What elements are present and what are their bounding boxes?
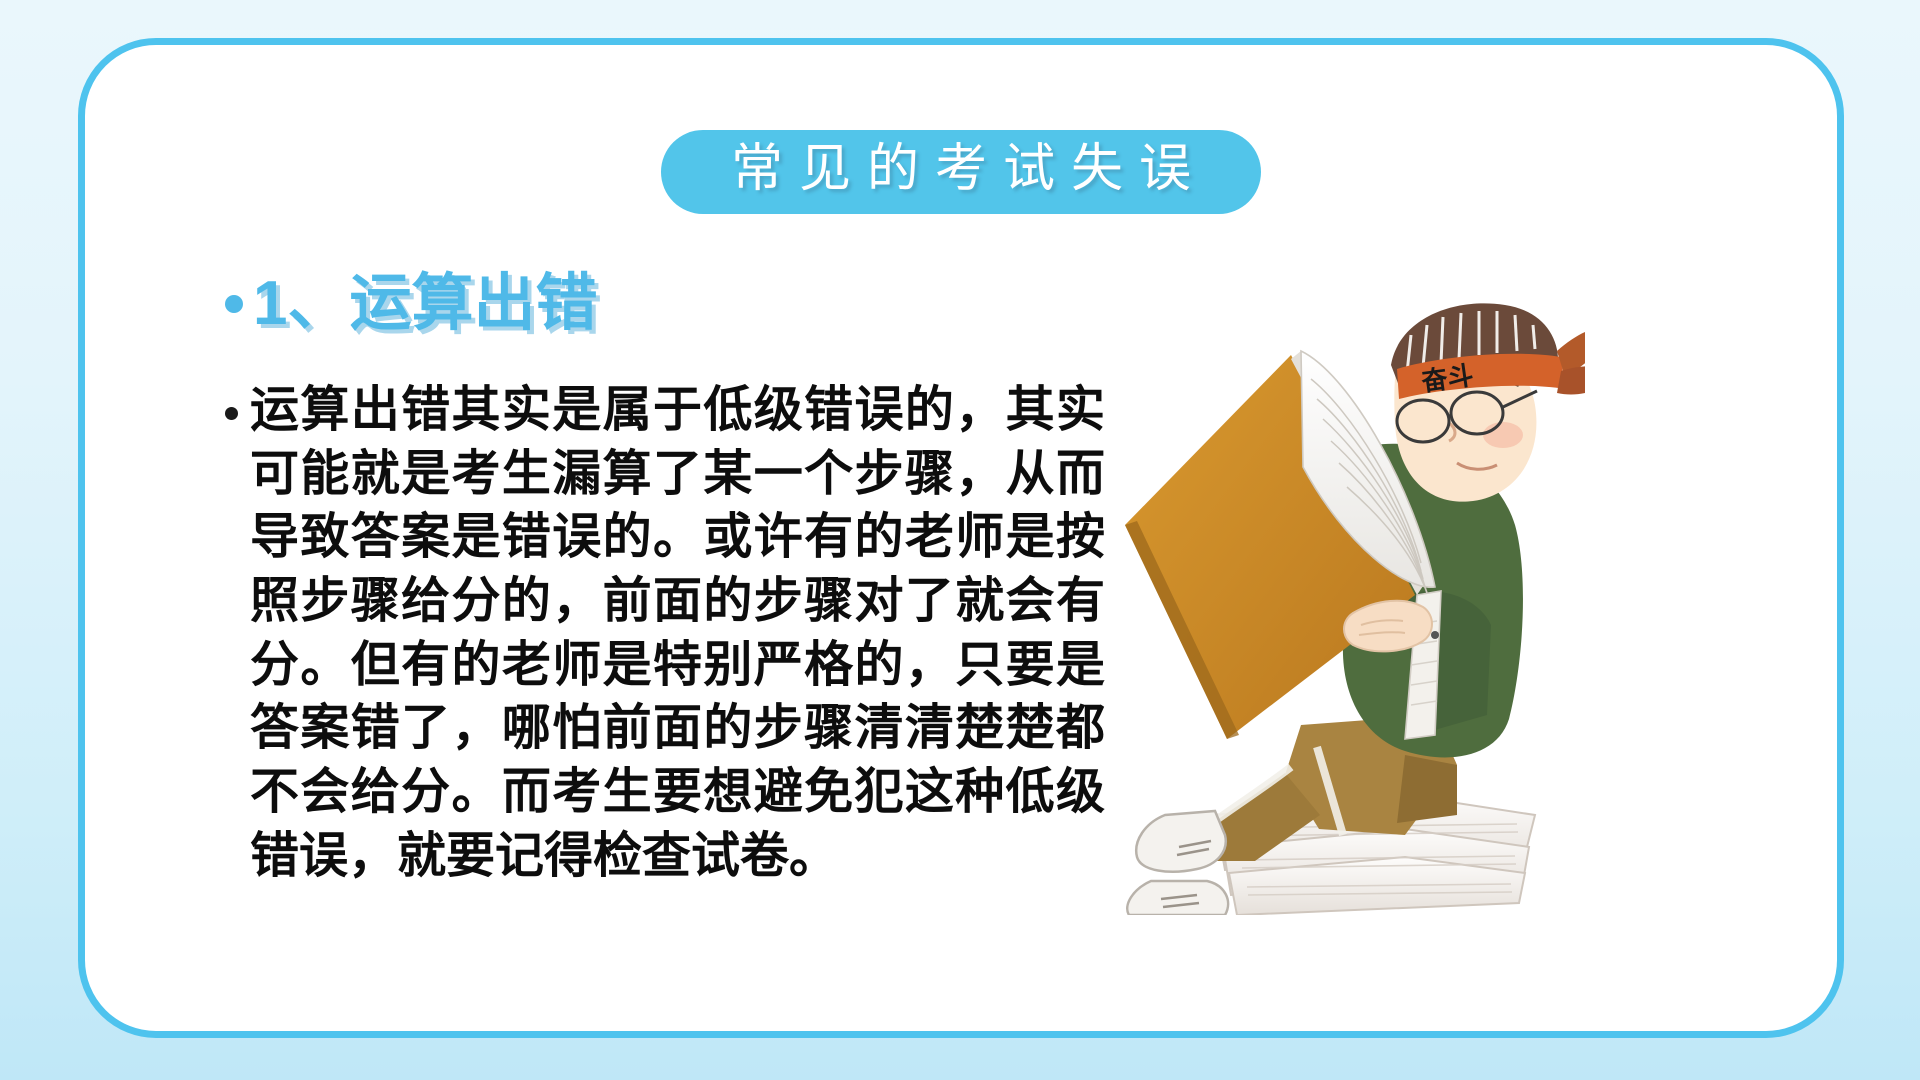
section-heading: 1、运算出错 xyxy=(225,273,597,335)
body-paragraph-block: 运算出错其实是属于低级错误的，其实可能就是考生漏算了某一个步骤，从而导致答案是错… xyxy=(225,379,1105,889)
student-reading-svg: 奋斗 xyxy=(1105,295,1585,915)
student-reading-illustration: 奋斗 xyxy=(1105,295,1585,915)
slide-card: 常见的考试失误 1、运算出错 运算出错其实是属于低级错误的，其实可能就是考生漏算… xyxy=(78,38,1844,1038)
student-head: 奋斗 xyxy=(1391,303,1585,501)
section-heading-label: 1、运算出错 xyxy=(253,273,597,335)
bullet-dot-icon xyxy=(225,295,243,313)
body-paragraph-text: 运算出错其实是属于低级错误的，其实可能就是考生漏算了某一个步骤，从而导致答案是错… xyxy=(250,379,1105,889)
page-title: 常见的考试失误 xyxy=(715,140,1207,200)
shoes-icon xyxy=(1127,811,1228,915)
paragraph-bullet-icon xyxy=(225,407,238,420)
title-badge: 常见的考试失误 xyxy=(661,130,1261,214)
